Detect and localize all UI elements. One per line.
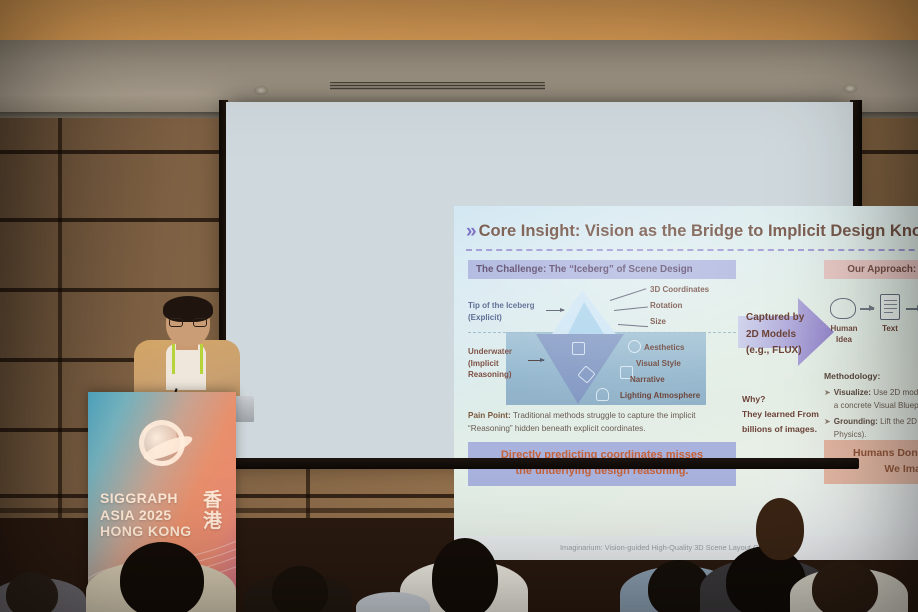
methodology-term: Visualize: — [834, 388, 871, 397]
lanyard — [172, 344, 175, 374]
methodology-term: Grounding: — [834, 417, 878, 426]
glasses-icon — [169, 318, 207, 327]
audience-member — [120, 542, 204, 612]
wall-seam — [58, 118, 62, 518]
left-panel-header: The Challenge: The “Iceberg” of Scene De… — [468, 260, 736, 279]
siggraph-asia-logo-icon — [139, 420, 185, 466]
arrow-caption: Captured by 2D Models (e.g., FLUX) — [746, 310, 818, 360]
double-chevron-icon: » — [466, 222, 474, 241]
methodology-header: Methodology: — [824, 370, 918, 384]
image-icon — [572, 342, 585, 355]
implicit-item-lighting: Lighting Atmosphere — [620, 390, 700, 402]
leader-line — [618, 324, 648, 327]
left-panel: The Challenge: The “Iceberg” of Scene De… — [468, 260, 736, 279]
downlight-icon — [843, 84, 857, 93]
pain-point-label: Pain Point: — [468, 411, 511, 420]
explicit-item-rotation: Rotation — [650, 300, 682, 312]
pain-point: Pain Point: Traditional methods struggle… — [468, 410, 736, 435]
methodology-item-grounding: ➤ Grounding: Lift the 2D blueprint into … — [824, 416, 918, 442]
explicit-item-3d-coordinates: 3D Coordinates — [650, 284, 709, 296]
implicit-item-visual-style: Visual Style — [636, 358, 681, 370]
methodology-item-visualize: ➤ Visualize: Use 2D models to instantiat… — [824, 387, 918, 413]
underwater-arrow-icon — [528, 360, 544, 361]
pipeline-arrow-icon — [860, 308, 874, 310]
downlight-icon — [254, 86, 268, 95]
screen-bottom-bar — [222, 458, 859, 469]
slide-title: » Core Insight: Vision as the Bridge to … — [466, 222, 918, 241]
slide-title-text: Core Insight: Vision as the Bridge to Im… — [479, 222, 918, 241]
title-divider — [466, 249, 918, 251]
explicit-item-size: Size — [650, 316, 666, 328]
document-icon — [880, 294, 900, 320]
bullet-icon: ➤ — [824, 387, 831, 413]
underwater-label: Underwater (Implicit Reasoning) — [468, 346, 528, 381]
why-text: Why? They learned From billions of image… — [742, 392, 822, 437]
audience-member-bun — [756, 498, 804, 560]
iceberg-tip-highlight — [568, 302, 604, 334]
pipeline-arrow-icon — [906, 308, 918, 310]
iceberg-diagram: Tip of the Iceberg (Explicit) 3D Coordin… — [468, 280, 736, 405]
tip-arrow-icon — [546, 310, 564, 311]
leader-line — [614, 306, 648, 311]
audience — [0, 492, 918, 612]
audience-member — [272, 566, 328, 612]
pipeline-label-text: Text — [874, 324, 906, 335]
right-panel-header: Our Approach: Vision-Guided Generation — [824, 260, 918, 279]
implicit-item-narrative: Narrative — [630, 374, 665, 386]
pipeline-diagram: Human Idea Text Image (Visual Blueprint)… — [824, 282, 918, 368]
palette-icon — [628, 340, 641, 353]
lightbulb-icon — [596, 388, 609, 401]
right-panel: Our Approach: Vision-Guided Generation — [824, 260, 918, 279]
ceiling-vent-icon — [330, 82, 545, 90]
projection-screen: SIGGRAPH ASIA 2025 HONG KONG 香 港 » Core … — [226, 102, 853, 462]
tip-label: Tip of the Iceberg (Explicit) — [468, 300, 544, 323]
bullet-icon: ➤ — [824, 416, 831, 442]
presentation-photo: SIGGRAPH ASIA 2025 HONG KONG 香 港 » Core … — [0, 0, 918, 612]
implicit-item-aesthetics: Aesthetics — [644, 342, 684, 354]
methodology-block: Methodology: ➤ Visualize: Use 2D models … — [824, 370, 918, 445]
audience-member — [432, 538, 498, 612]
pipeline-label-human-idea: Human Idea — [824, 324, 864, 346]
lanyard — [200, 344, 203, 374]
audience-member — [812, 560, 878, 612]
brain-icon — [830, 298, 856, 319]
audience-member — [6, 572, 58, 612]
